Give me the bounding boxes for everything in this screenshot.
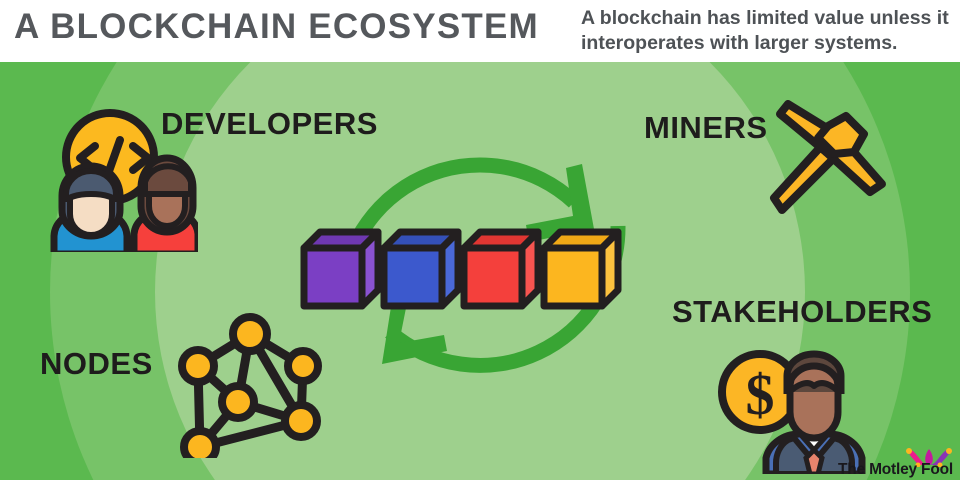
pickaxe-icon bbox=[760, 82, 900, 222]
header: A BLOCKCHAIN ECOSYSTEM A blockchain has … bbox=[0, 0, 960, 62]
label-miners: MINERS bbox=[644, 110, 768, 146]
dollar-sign-glyph: $ bbox=[746, 362, 775, 427]
blockchain-blocks-icon bbox=[296, 222, 644, 332]
label-stakeholders: STAKEHOLDERS bbox=[672, 294, 932, 330]
infographic-root: A BLOCKCHAIN ECOSYSTEM A blockchain has … bbox=[0, 0, 960, 480]
page-title: A BLOCKCHAIN ECOSYSTEM bbox=[14, 7, 539, 47]
illustration-stage: DEVELOPERS MINERS bbox=[0, 62, 960, 480]
developers-icon bbox=[48, 102, 198, 252]
motley-fool-logo-text: The Motley Fool bbox=[838, 461, 953, 479]
label-nodes: NODES bbox=[40, 346, 153, 382]
page-subtitle: A blockchain has limited value unless it… bbox=[581, 6, 953, 56]
motley-fool-logo[interactable]: The Motley Fool bbox=[838, 445, 954, 479]
